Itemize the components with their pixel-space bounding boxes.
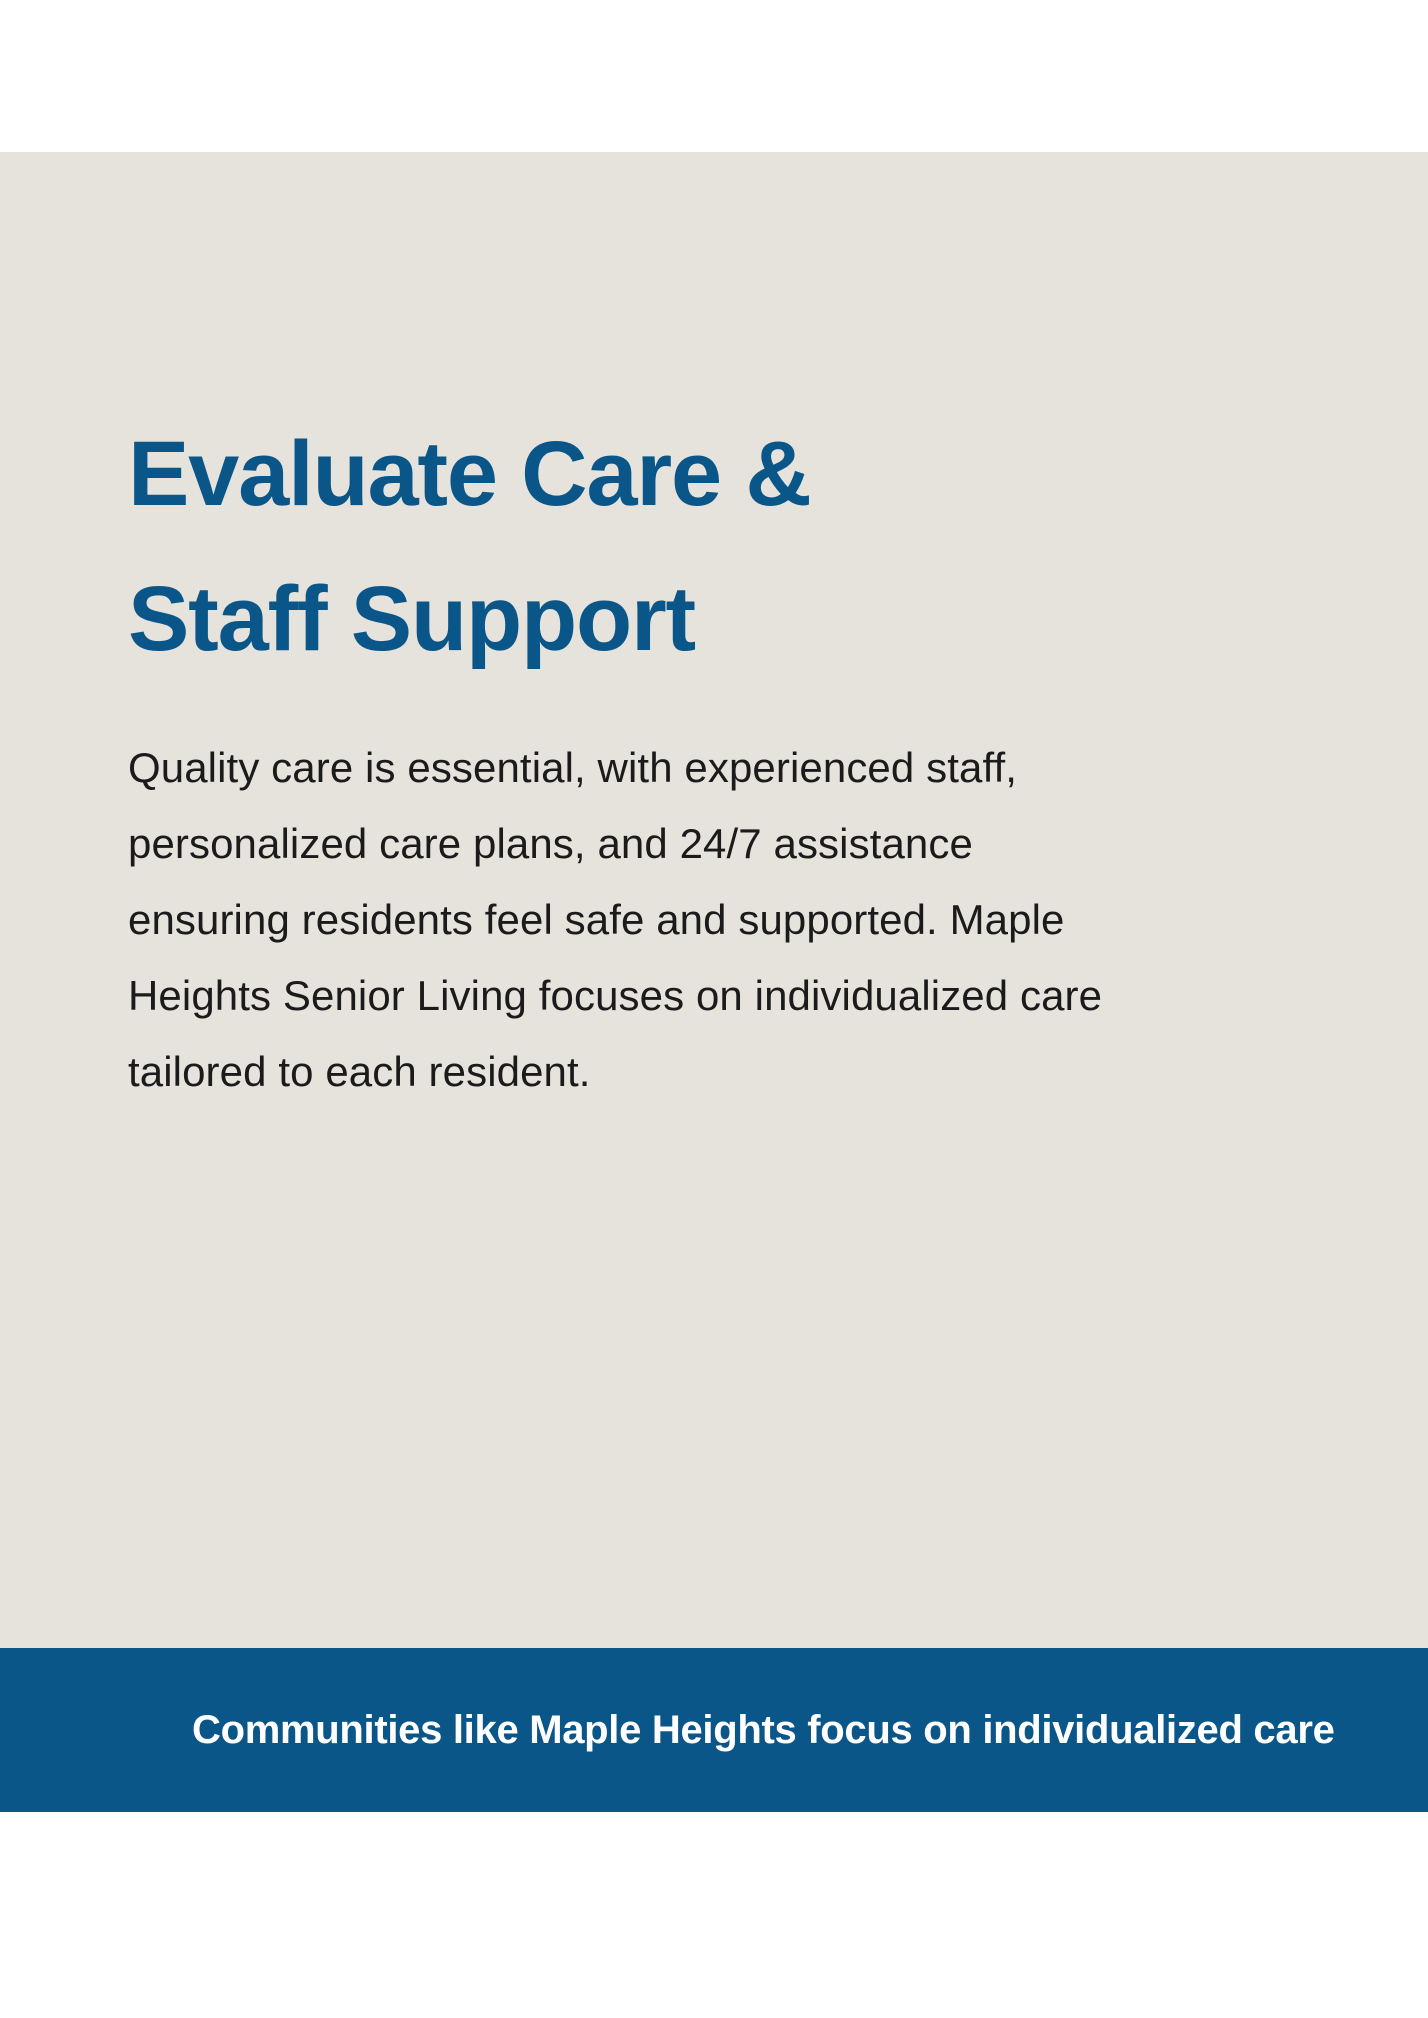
section-body-line-1: Quality care is essential, with experien… — [128, 730, 1428, 806]
caption-banner-text: Communities like Maple Heights focus on … — [192, 1648, 1335, 1812]
section-body-line-4: Heights Senior Living focuses on individ… — [128, 958, 1428, 1034]
section-body-line-5: tailored to each resident. — [128, 1034, 1428, 1110]
section-heading-line-1: Evaluate Care & — [128, 402, 1428, 547]
bottom-white-gutter — [0, 1812, 1428, 2018]
top-white-gutter — [0, 0, 1428, 152]
section-heading-line-2: Staff Support — [128, 547, 1428, 692]
page-root: Evaluate Care & Staff Support Quality ca… — [0, 0, 1428, 2018]
section-heading: Evaluate Care & Staff Support — [128, 402, 1428, 693]
section-body-line-3: ensuring residents feel safe and support… — [128, 882, 1428, 958]
section-body-paragraph: Quality care is essential, with experien… — [128, 730, 1428, 1110]
section-body-line-2: personalized care plans, and 24/7 assist… — [128, 806, 1428, 882]
caption-banner: Communities like Maple Heights focus on … — [0, 1648, 1428, 1812]
content-panel: Evaluate Care & Staff Support Quality ca… — [0, 152, 1428, 1648]
